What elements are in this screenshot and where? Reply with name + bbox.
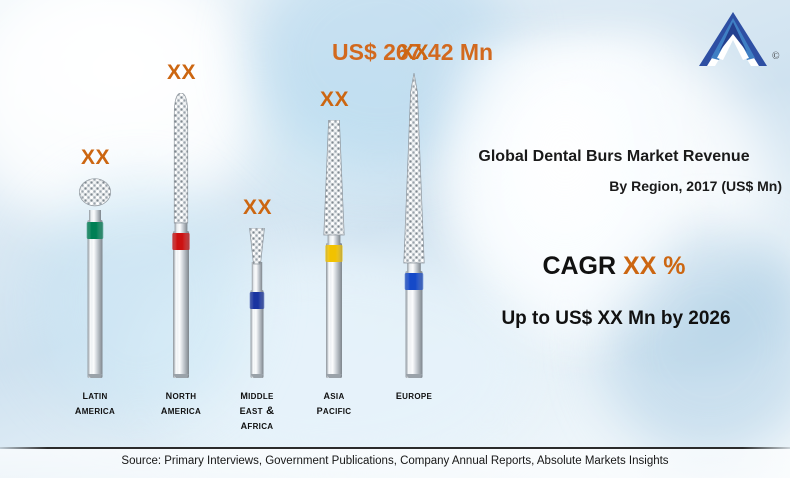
bur-bar <box>393 73 435 383</box>
bar-value-label: XX <box>81 146 110 170</box>
forecast-statement: Up to US$ XX Mn by 2026 <box>440 308 790 330</box>
bur-bar <box>74 178 116 383</box>
copyright-icon: © <box>772 51 780 62</box>
bur-bar <box>242 228 272 383</box>
bur-bar <box>315 120 353 383</box>
region-label: AsiaPacific <box>289 388 379 418</box>
footer-divider <box>0 447 790 449</box>
bar-value-label: XX <box>167 61 196 85</box>
bar-value-label: XX <box>320 88 349 112</box>
cagr-label: CAGR <box>542 252 616 280</box>
region-label: Europe <box>369 388 459 403</box>
bar-value-label: XX <box>243 196 272 220</box>
source-note: Source: Primary Interviews, Government P… <box>0 455 790 467</box>
absolute-markets-insights-logo-icon <box>697 8 769 70</box>
bar-value-label: XX <box>400 41 429 65</box>
bur-bar <box>164 93 198 383</box>
region-label: LatinAmerica <box>50 388 140 418</box>
background-blur-blob <box>0 0 260 230</box>
background-blur-blob <box>30 180 250 420</box>
cagr-value: XX % <box>623 252 686 280</box>
background-blur-blob <box>250 0 510 170</box>
cagr-statistic: CAGR XX % <box>440 252 788 281</box>
chart-title: Global Dental Burs Market Revenue <box>440 148 788 166</box>
chart-subtitle: By Region, 2017 (US$ Mn) <box>440 178 788 194</box>
infographic-canvas: © US$ 267.42 Mn Global Dental Burs Marke… <box>0 0 790 478</box>
